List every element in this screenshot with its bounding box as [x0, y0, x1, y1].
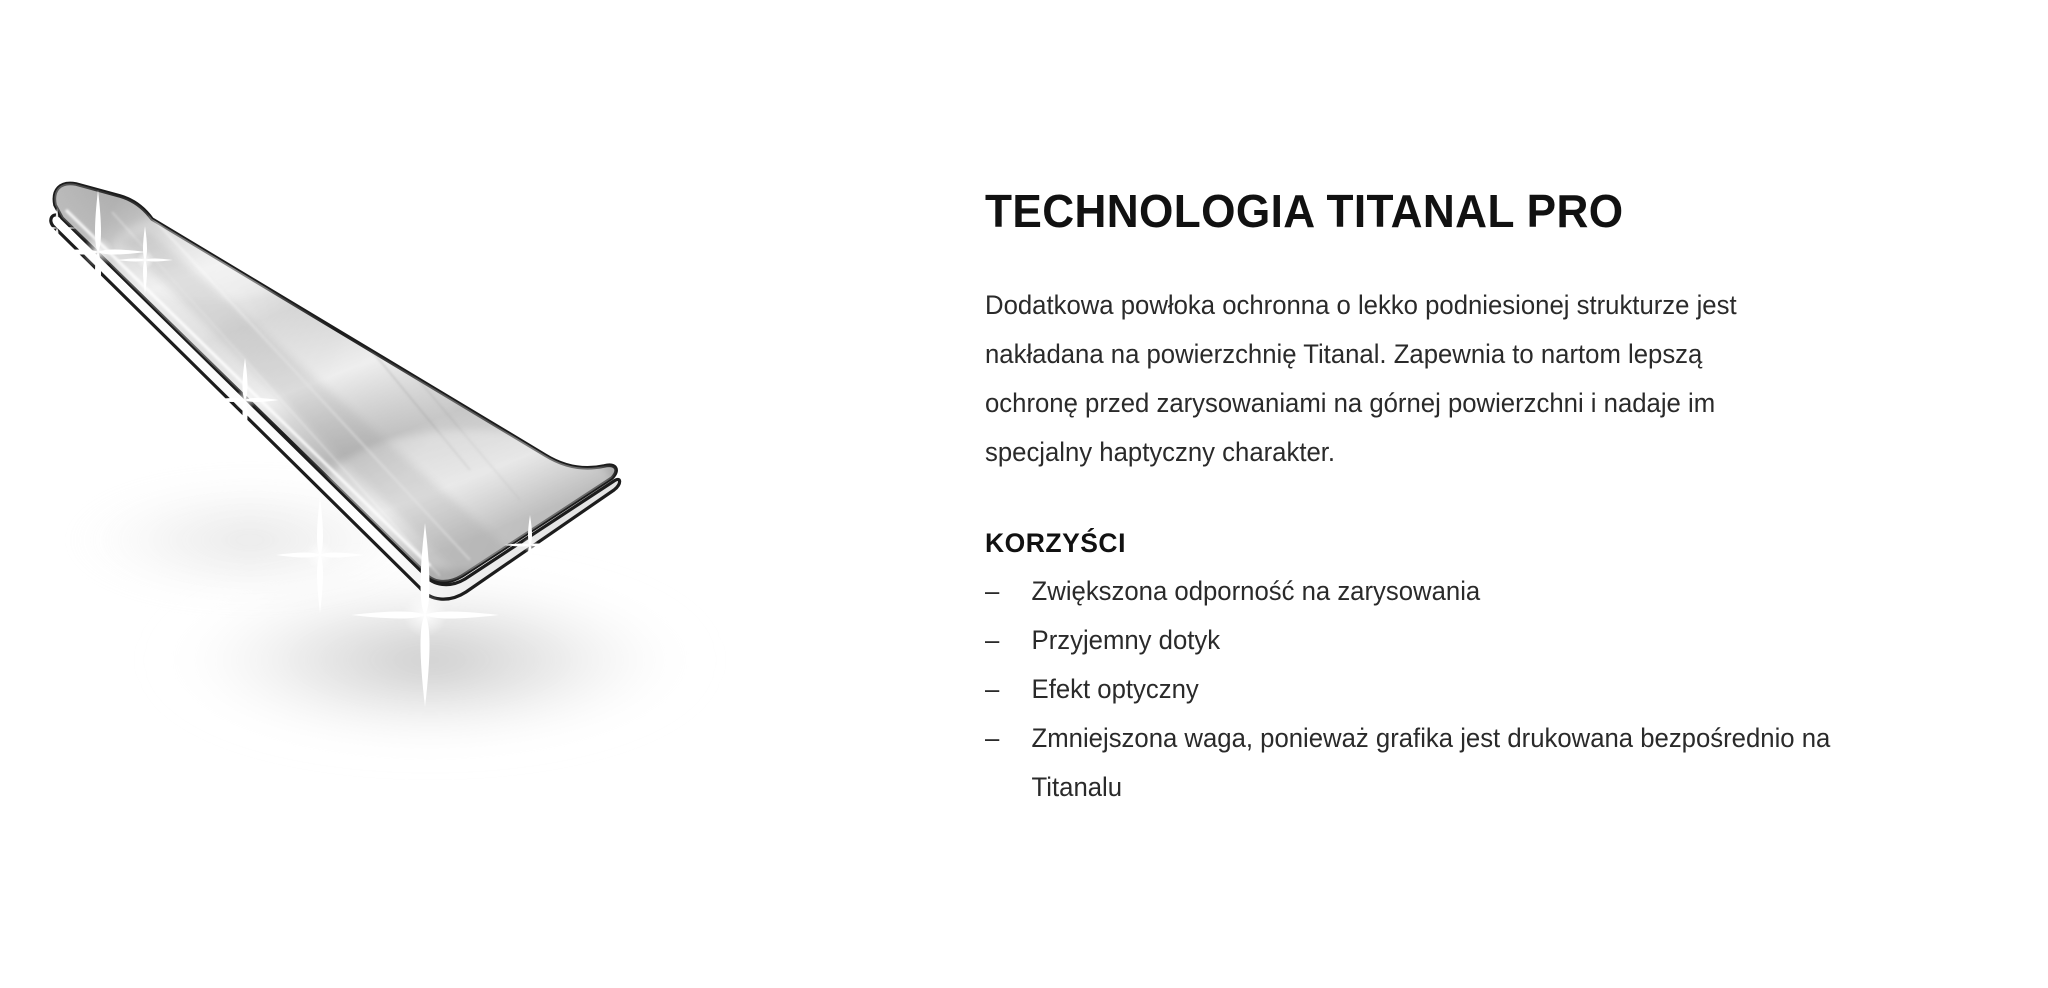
technology-info-page: TECHNOLOGIA TITANAL PRO Dodatkowa powłok… [0, 0, 2048, 988]
bullet-dash-icon: – [985, 714, 999, 763]
ski-illustration-panel [0, 0, 780, 988]
list-item: – Przyjemny dotyk [985, 616, 1858, 665]
list-item-label: Przyjemny dotyk [1032, 625, 1221, 655]
titanal-pro-ski-icon [0, 0, 780, 988]
page-title: TECHNOLOGIA TITANAL PRO [985, 186, 1624, 236]
bullet-dash-icon: – [985, 665, 999, 714]
benefits-list: – Zwiększona odporność na zarysowania – … [985, 567, 1885, 812]
bullet-dash-icon: – [985, 616, 999, 665]
list-item: – Efekt optyczny [985, 665, 1858, 714]
list-item-label: Zmniejszona waga, ponieważ grafika jest … [985, 714, 1858, 812]
list-item-label: Efekt optyczny [1032, 674, 1199, 704]
bullet-dash-icon: – [985, 567, 999, 616]
list-item-label: Zwiększona odporność na zarysowania [1032, 576, 1481, 606]
technology-text-panel: TECHNOLOGIA TITANAL PRO Dodatkowa powłok… [985, 0, 1985, 988]
list-item: – Zmniejszona waga, ponieważ grafika jes… [985, 714, 1858, 812]
benefits-heading: KORZYŚCI [985, 527, 1126, 559]
list-item: – Zwiększona odporność na zarysowania [985, 567, 1858, 616]
description-paragraph: Dodatkowa powłoka ochronna o lekko podni… [985, 281, 1751, 477]
